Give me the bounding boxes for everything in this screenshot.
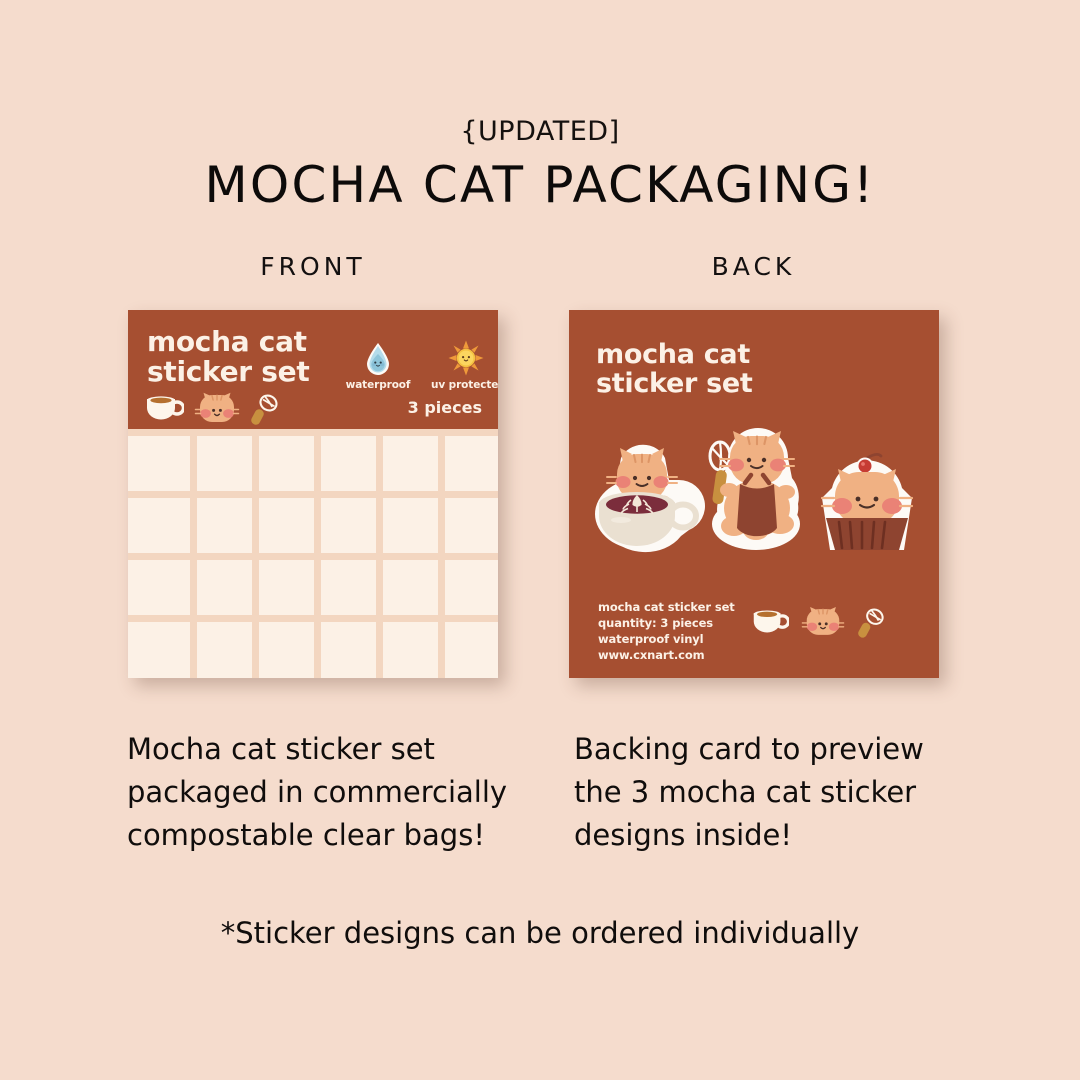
label-back: BACK xyxy=(569,252,938,281)
back-card-icon-row xyxy=(749,606,886,643)
whisk-icon xyxy=(250,393,280,430)
back-card-sticker-preview xyxy=(569,428,939,580)
back-card-info-text: mocha cat sticker set quantity: 3 pieces… xyxy=(598,600,735,663)
badge-waterproof-label: waterproof xyxy=(343,379,413,391)
caption-back: Backing card to preview the 3 mocha cat … xyxy=(574,728,974,857)
front-card-grid xyxy=(128,429,498,678)
front-card-badges: waterproof xyxy=(343,336,498,391)
baker-cat-whisk-sticker xyxy=(698,428,816,563)
badge-uv-protected-label: uv protected xyxy=(431,379,498,391)
badge-uv-protected: uv protected xyxy=(431,336,498,391)
page-title: MOCHA CAT PACKAGING! xyxy=(0,156,1080,214)
coffee-cup-icon xyxy=(142,394,184,429)
footnote: *Sticker designs can be ordered individu… xyxy=(0,916,1080,950)
back-card-title: mocha cat sticker set xyxy=(596,340,753,398)
cat-face-icon xyxy=(194,392,240,430)
back-package-card: mocha cat sticker set xyxy=(569,310,939,678)
front-card-pieces-count: 3 pieces xyxy=(408,398,482,417)
badge-waterproof: waterproof xyxy=(343,336,413,391)
cat-face-icon xyxy=(801,606,845,643)
front-package-card: mocha cat sticker set waterpro xyxy=(128,310,498,678)
water-drop-icon xyxy=(343,336,413,376)
front-card-title: mocha cat sticker set xyxy=(147,327,309,386)
label-front: FRONT xyxy=(128,252,498,281)
latte-art-cat-sticker xyxy=(587,440,709,563)
coffee-cup-icon xyxy=(749,608,789,642)
sun-icon xyxy=(431,336,498,376)
poster-canvas: {UPDATED] MOCHA CAT PACKAGING! FRONT BAC… xyxy=(0,0,1080,1080)
front-card-icon-row xyxy=(142,392,280,430)
cupcake-cat-sticker xyxy=(808,442,926,563)
whisk-icon xyxy=(857,607,886,643)
caption-front: Mocha cat sticker set packaged in commer… xyxy=(127,728,527,857)
updated-tag: {UPDATED] xyxy=(0,116,1080,147)
